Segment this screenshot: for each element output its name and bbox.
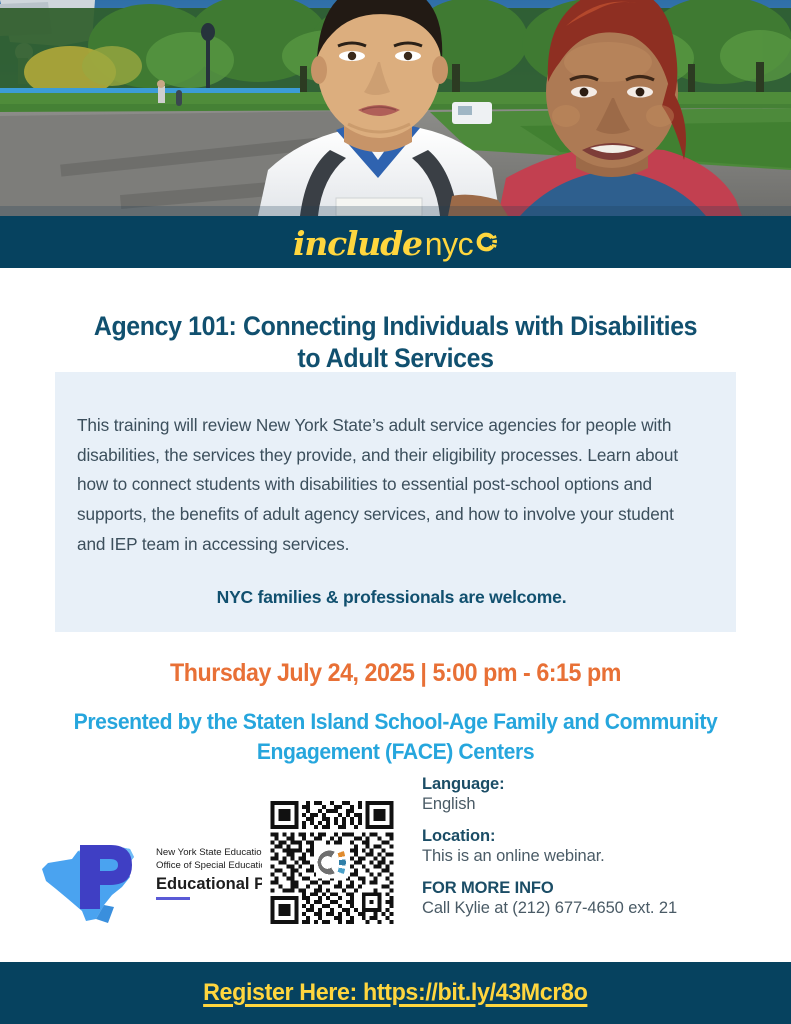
info-group-more-info: FOR MORE INFO Call Kylie at (212) 677-46… (422, 879, 752, 918)
info-label-more-info: FOR MORE INFO (422, 879, 752, 898)
description-body: This training will review New York State… (77, 411, 706, 559)
logo-include-text: include (293, 227, 422, 260)
info-group-location: Location: This is an online webinar. (422, 827, 752, 866)
logo-nyc-text: nyc (425, 228, 473, 260)
event-datetime: Thursday July 24, 2025 | 5:00 pm - 6:15 … (65, 659, 726, 688)
info-label-location: Location: (422, 827, 752, 846)
event-info-column: Language: English Location: This is an o… (422, 775, 752, 918)
partner-line-2: Office of Special Education (156, 860, 262, 871)
nysed-educational-partnership-logo: New York State Education Department Offi… (38, 833, 262, 925)
flyer-page: include nyc Agency 101: Connecting Indiv… (0, 0, 791, 1024)
brand-logo-band: include nyc (0, 216, 791, 268)
description-welcome: NYC families & professionals are welcome… (77, 587, 706, 608)
info-value-location: This is an online webinar. (422, 847, 752, 866)
register-link[interactable]: Register Here: https://bit.ly/43Mcr8o (203, 979, 587, 1007)
includenyc-logo: include nyc (293, 227, 498, 260)
page-title: Agency 101: Connecting Individuals with … (80, 310, 711, 375)
qr-code[interactable] (265, 797, 399, 928)
register-footer-bar: Register Here: https://bit.ly/43Mcr8o (0, 962, 791, 1024)
info-group-language: Language: English (422, 775, 752, 814)
info-label-language: Language: (422, 775, 752, 794)
description-box: This training will review New York State… (55, 372, 736, 632)
partner-line-3: Educational Partnership (156, 875, 262, 893)
info-value-language: English (422, 795, 752, 814)
info-value-more-info: Call Kylie at (212) 677-4650 ext. 21 (422, 899, 752, 918)
hero-photo (0, 0, 791, 216)
partner-line-1: New York State Education Department (156, 847, 262, 858)
includenyc-c-circle-icon (474, 230, 498, 254)
presenter-line: Presented by the Staten Island School-Ag… (71, 707, 721, 766)
